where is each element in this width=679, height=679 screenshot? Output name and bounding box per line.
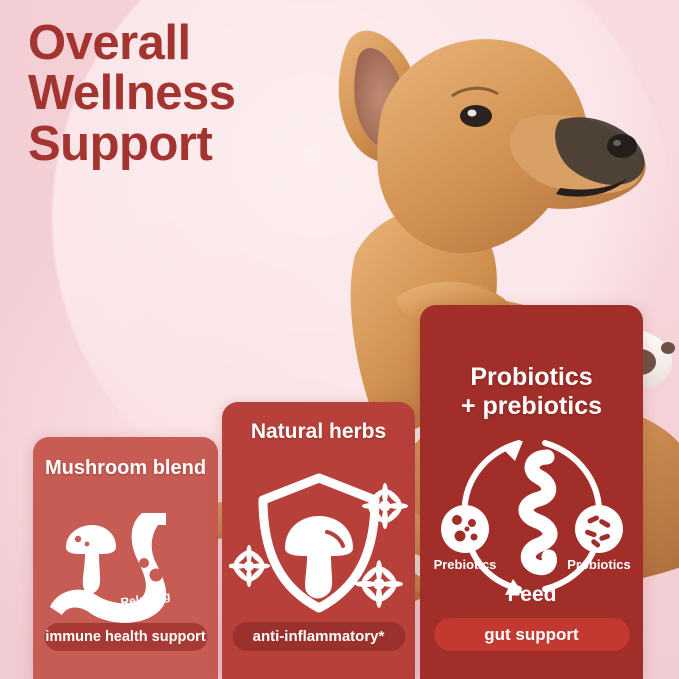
page-title: Overall Wellness Support	[28, 18, 358, 169]
stomach-mushroom-icon: Relaxing	[46, 503, 206, 633]
mushroom-spot	[74, 536, 80, 542]
mushroom-stem	[305, 556, 332, 599]
mushroom-cap	[285, 516, 353, 556]
stomach-dot	[139, 558, 149, 568]
intestine-icon	[525, 457, 549, 568]
daisy-icon	[362, 483, 408, 529]
stomach-dot	[149, 569, 162, 582]
stomach-shape	[50, 513, 166, 623]
prebiotics-label: Prebiotics	[433, 557, 496, 572]
card-artwork	[222, 454, 415, 639]
benefit-card-probiotics-prebiotics[interactable]: Probiotics + prebiotics	[420, 305, 643, 679]
headline-line-1: Overall	[28, 18, 358, 68]
card-artwork: Relaxing	[33, 493, 218, 643]
daisy-icon	[229, 544, 270, 586]
card-badge[interactable]: immune health support	[44, 623, 207, 651]
card-title: Mushroom blend	[33, 457, 218, 480]
headline-line-3: Support	[28, 119, 358, 169]
card-badge[interactable]: anti-inflammatory*	[232, 622, 405, 651]
benefit-card-natural-herbs[interactable]: Natural herbs	[222, 402, 415, 679]
card-title-line-1: Probiotics	[420, 363, 643, 392]
gut-cycle-icon: Prebiotics Probiotics Feed	[427, 423, 637, 603]
stomach-dot	[137, 577, 145, 585]
feed-label: Feed	[507, 583, 556, 603]
shield-mushroom-icon	[229, 462, 409, 632]
card-badge[interactable]: gut support	[434, 618, 630, 651]
mushroom-spot	[84, 542, 89, 547]
headline-line-2: Wellness	[28, 68, 358, 118]
probiotics-label: Probiotics	[567, 557, 631, 572]
mushroom-cap	[66, 525, 116, 554]
paw-toe	[661, 342, 675, 354]
mushroom-stem	[82, 554, 99, 594]
card-title: Natural herbs	[222, 420, 415, 444]
card-title: Probiotics + prebiotics	[420, 363, 643, 420]
card-artwork: Prebiotics Probiotics Feed	[420, 415, 643, 610]
promo-image: Overall Wellness Support	[0, 0, 679, 679]
benefit-card-mushroom-blend[interactable]: Mushroom blend Relaxing immune health su…	[33, 437, 218, 679]
